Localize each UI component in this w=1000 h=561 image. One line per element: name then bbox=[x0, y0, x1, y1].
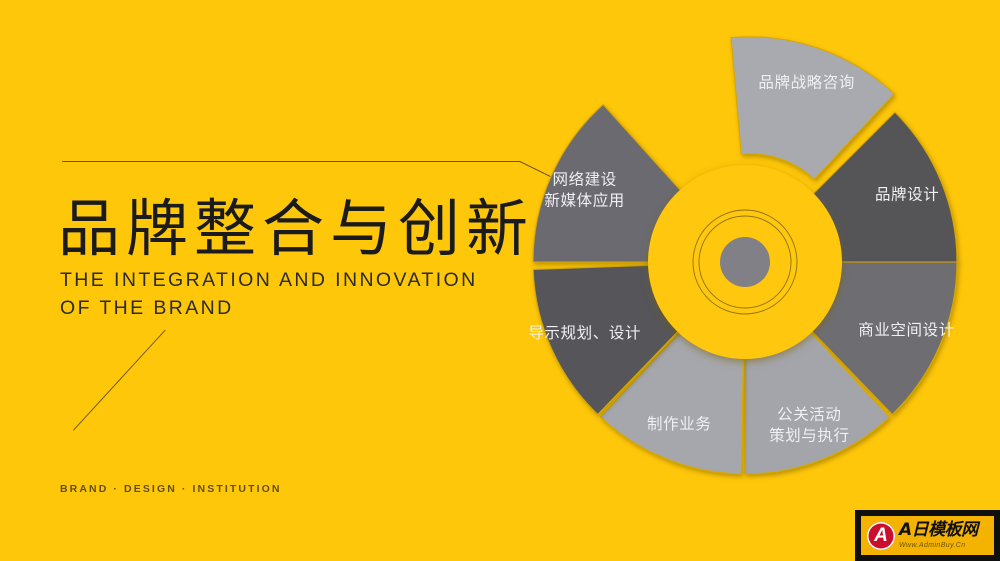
donut-segment-label: 新媒体应用 bbox=[544, 191, 625, 210]
footer-tagline: BRAND · DESIGN · INSTITUTION bbox=[60, 483, 282, 495]
title-top-rule bbox=[62, 161, 520, 162]
watermark-brand: A日模板网 bbox=[899, 522, 978, 539]
donut-segment-label: 品牌战略咨询 bbox=[758, 73, 855, 91]
donut-segment-label: 品牌设计 bbox=[875, 185, 939, 203]
donut-segment-label: 商业空间设计 bbox=[858, 321, 955, 339]
donut-chart: 品牌战略咨询品牌设计商业空间设计公关活动策划与执行制作业务导示规划、设计网络建设… bbox=[520, 35, 1000, 515]
donut-center-dot bbox=[720, 237, 770, 287]
donut-segment-label: 策划与执行 bbox=[769, 426, 850, 444]
donut-hub bbox=[648, 165, 842, 359]
watermark-text: A日模板网 Www.AdminBuy.Cn bbox=[899, 522, 978, 549]
decorative-diagonal-line bbox=[73, 330, 166, 431]
watermark-badge-icon: A bbox=[867, 522, 895, 550]
donut-segment-label: 公关活动 bbox=[777, 405, 841, 423]
page-title: 品牌整合与创新 bbox=[58, 178, 534, 268]
donut-segment-label: 制作业务 bbox=[647, 415, 711, 433]
page-subtitle: THE INTEGRATION AND INNOVATION OF THE BR… bbox=[60, 266, 478, 322]
watermark-logo: A A日模板网 Www.AdminBuy.Cn bbox=[855, 510, 1000, 561]
donut-segment-label: 导示规划、设计 bbox=[528, 324, 641, 342]
slide-canvas: 品牌整合与创新 THE INTEGRATION AND INNOVATION O… bbox=[0, 0, 1000, 561]
donut-segment-label: 网络建设 bbox=[552, 171, 616, 189]
watermark-url: Www.AdminBuy.Cn bbox=[899, 542, 978, 549]
watermark-inner: A A日模板网 Www.AdminBuy.Cn bbox=[861, 516, 994, 555]
